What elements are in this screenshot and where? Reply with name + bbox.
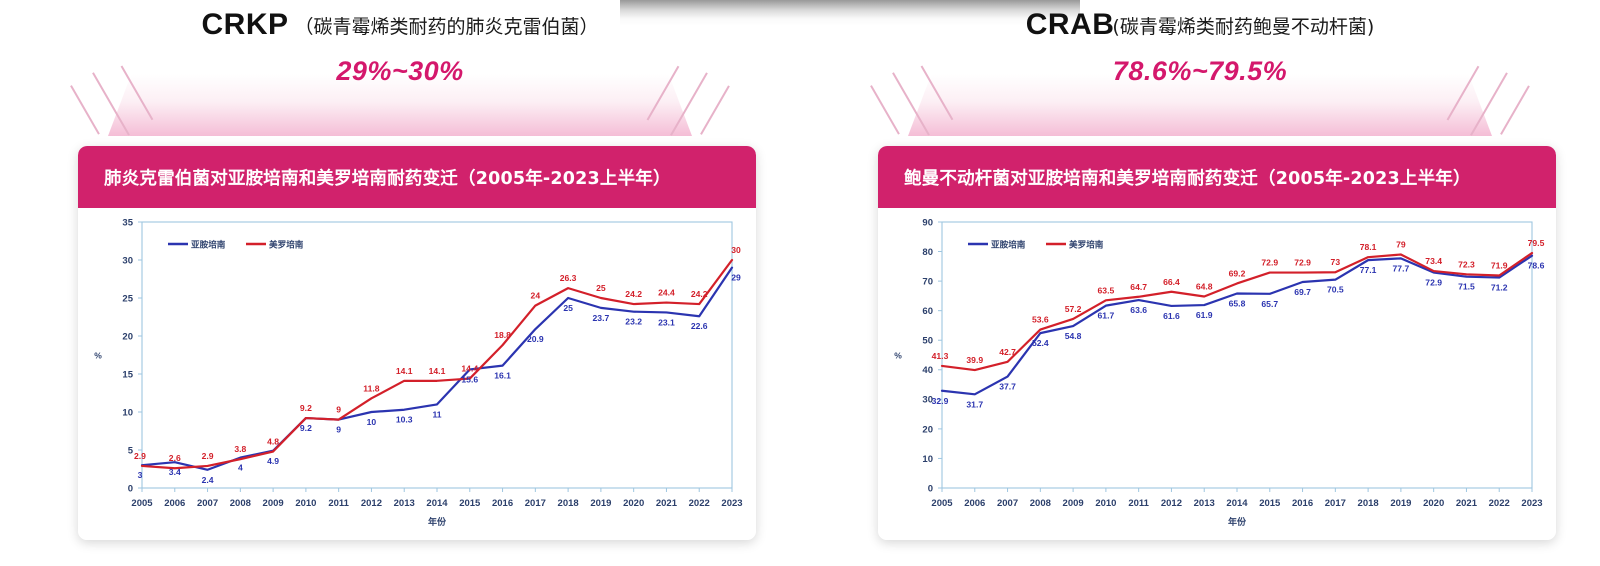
data-label: 73.4 [1425, 256, 1442, 266]
x-tick-label: 2012 [361, 498, 382, 509]
x-tick-label: 2016 [492, 498, 513, 509]
data-label: 72.9 [1294, 258, 1311, 268]
data-label: 32.9 [932, 396, 949, 406]
x-tick-label: 2017 [525, 498, 546, 509]
x-tick-label: 2013 [1194, 498, 1215, 509]
data-label: 10.3 [396, 415, 413, 425]
y-tick-label: 20 [122, 331, 133, 342]
chart-area-crkp: 05101520253035%2005200620072008200920102… [78, 208, 756, 540]
x-tick-label: 2010 [1095, 498, 1116, 509]
data-label: 18.8 [494, 330, 511, 340]
data-label: 30 [731, 245, 741, 255]
legend-label: 美罗培南 [1069, 239, 1104, 251]
x-tick-label: 2008 [230, 498, 251, 509]
data-label: 24.2 [691, 289, 708, 299]
data-label: 66.4 [1163, 277, 1180, 287]
data-label: 72.9 [1425, 278, 1442, 288]
data-label: 2.9 [134, 451, 146, 461]
chart-area-crab: 0102030405060708090%20052006200720082009… [878, 208, 1556, 540]
data-label: 14.4 [461, 364, 478, 374]
y-tick-label: 90 [922, 217, 933, 228]
data-label: 10 [367, 417, 377, 427]
chart-card-crkp: 肺炎克雷伯菌对亚胺培南和美罗培南耐药变迁（2005年-2023上半年） 0510… [78, 146, 756, 540]
legend-label: 美罗培南 [269, 239, 304, 251]
y-axis-title: % [94, 350, 102, 360]
data-label: 61.7 [1098, 311, 1115, 321]
y-tick-label: 15 [122, 369, 133, 380]
data-label: 64.8 [1196, 281, 1213, 291]
data-label: 77.1 [1360, 265, 1377, 275]
decorative-banner-crab: 78.6%~79.5% [870, 48, 1530, 140]
header-crkp: CRKP（碳青霉烯类耐药的肺炎克雷伯菌） [10, 8, 790, 42]
data-label: 3.8 [234, 444, 246, 454]
x-tick-label: 2017 [1325, 498, 1346, 509]
legend-label: 亚胺培南 [991, 239, 1026, 251]
data-label: 79 [1396, 240, 1406, 250]
x-tick-label: 2006 [164, 498, 185, 509]
x-tick-label: 2022 [689, 498, 710, 509]
data-label: 9 [336, 425, 341, 435]
data-label: 73 [1331, 257, 1341, 267]
data-label: 52.4 [1032, 338, 1049, 348]
data-label: 9.2 [300, 423, 312, 433]
x-tick-label: 2014 [1226, 498, 1248, 509]
x-tick-label: 2012 [1161, 498, 1182, 509]
data-label: 25 [563, 303, 573, 313]
x-tick-label: 2008 [1030, 498, 1051, 509]
chart-card-title-crkp: 肺炎克雷伯菌对亚胺培南和美罗培南耐药变迁（2005年-2023上半年） [104, 165, 671, 190]
data-label: 61.6 [1163, 311, 1180, 321]
x-tick-label: 2023 [721, 498, 742, 509]
data-label: 4.9 [267, 456, 279, 466]
y-tick-label: 20 [922, 424, 933, 435]
x-axis-title: 年份 [428, 516, 447, 528]
data-label: 53.6 [1032, 315, 1049, 325]
data-label: 16.1 [494, 371, 511, 381]
y-axis-title: % [894, 350, 902, 360]
data-label: 24 [531, 291, 541, 301]
data-label: 23.7 [593, 313, 610, 323]
data-label: 20.9 [527, 334, 544, 344]
data-label: 15.6 [461, 374, 478, 384]
data-label: 39.9 [966, 355, 983, 365]
data-label: 14.1 [429, 366, 446, 376]
x-tick-label: 2010 [295, 498, 316, 509]
data-label: 29 [731, 273, 741, 283]
data-label: 78.1 [1360, 242, 1377, 252]
x-tick-label: 2014 [426, 498, 448, 509]
y-tick-label: 0 [928, 483, 933, 494]
data-label: 70.5 [1327, 285, 1344, 295]
acronym-crkp: CRKP [201, 8, 288, 41]
x-tick-label: 2011 [1128, 498, 1149, 509]
data-label: 4.8 [267, 437, 279, 447]
data-label: 63.6 [1130, 305, 1147, 315]
data-label: 3.4 [169, 467, 181, 477]
chart-card-title-bar-crkp: 肺炎克雷伯菌对亚胺培南和美罗培南耐药变迁（2005年-2023上半年） [78, 146, 756, 208]
range-pct-crkp: 29%~30% [70, 56, 730, 87]
data-label: 65.7 [1261, 299, 1278, 309]
data-label: 65.8 [1229, 299, 1246, 309]
y-tick-label: 40 [922, 365, 933, 376]
subtitle-crkp: （碳青霉烯类耐药的肺炎克雷伯菌） [295, 16, 599, 38]
y-tick-label: 70 [922, 277, 933, 288]
x-tick-label: 2015 [459, 498, 481, 509]
panel-crkp: CRKP（碳青霉烯类耐药的肺炎克雷伯菌） 29%~30% 肺炎克雷伯菌对亚胺培南… [10, 0, 790, 566]
x-tick-label: 2013 [394, 498, 415, 509]
data-label: 23.2 [625, 317, 642, 327]
data-label: 78.6 [1528, 261, 1545, 271]
data-label: 31.7 [966, 399, 983, 409]
data-label: 26.3 [560, 273, 577, 283]
x-tick-label: 2018 [1358, 498, 1379, 509]
data-label: 41.3 [932, 351, 949, 361]
banner-slash-left-1 [870, 85, 899, 134]
x-tick-label: 2020 [623, 498, 644, 509]
data-label: 2.9 [202, 451, 214, 461]
x-tick-label: 2016 [1292, 498, 1313, 509]
data-label: 79.5 [1528, 238, 1545, 248]
y-tick-label: 50 [922, 336, 933, 347]
line-chart: 05101520253035%2005200620072008200920102… [78, 208, 756, 540]
range-pct-crab: 78.6%~79.5% [870, 56, 1530, 87]
line-chart: 0102030405060708090%20052006200720082009… [878, 208, 1556, 540]
x-tick-label: 2005 [131, 498, 153, 509]
data-label: 71.5 [1458, 282, 1475, 292]
data-label: 23.1 [658, 317, 675, 327]
x-tick-label: 2005 [931, 498, 953, 509]
data-label: 22.6 [691, 321, 708, 331]
y-tick-label: 60 [922, 306, 933, 317]
x-tick-label: 2007 [197, 498, 218, 509]
data-label: 63.5 [1098, 285, 1115, 295]
data-label: 24.4 [658, 288, 675, 298]
decorative-banner-crkp: 29%~30% [70, 48, 730, 140]
legend-label: 亚胺培南 [191, 239, 226, 251]
x-tick-label: 2021 [1456, 498, 1478, 509]
chart-card-title-bar-crab: 鲍曼不动杆菌对亚胺培南和美罗培南耐药变迁（2005年-2023上半年） [878, 146, 1556, 208]
header-crab: CRAB(碳青霉烯类耐药鲍曼不动杆菌) [810, 8, 1590, 42]
data-label: 37.7 [999, 382, 1016, 392]
y-tick-label: 35 [122, 217, 133, 228]
data-label: 9.2 [300, 403, 312, 413]
data-label: 72.9 [1261, 258, 1278, 268]
data-label: 11.8 [363, 383, 379, 393]
x-tick-label: 2011 [328, 498, 349, 509]
data-label: 42.7 [999, 347, 1016, 357]
x-tick-label: 2023 [1521, 498, 1542, 509]
data-label: 54.8 [1065, 331, 1082, 341]
x-tick-label: 2015 [1259, 498, 1281, 509]
y-tick-label: 10 [922, 454, 933, 465]
plot-frame [142, 222, 732, 488]
x-tick-label: 2018 [558, 498, 579, 509]
data-label: 69.7 [1294, 287, 1311, 297]
x-tick-label: 2022 [1489, 498, 1510, 509]
data-label: 64.7 [1130, 282, 1147, 292]
data-label: 9 [336, 405, 341, 415]
panel-crab: CRAB(碳青霉烯类耐药鲍曼不动杆菌) 78.6%~79.5% 鲍曼不动杆菌对亚… [810, 0, 1590, 566]
y-tick-label: 30 [122, 255, 133, 266]
x-tick-label: 2019 [1390, 498, 1411, 509]
acronym-crab: CRAB [1026, 8, 1115, 41]
x-tick-label: 2020 [1423, 498, 1444, 509]
chart-card-title-crab: 鲍曼不动杆菌对亚胺培南和美罗培南耐药变迁（2005年-2023上半年） [904, 165, 1471, 190]
data-label: 11 [432, 409, 441, 419]
y-tick-label: 0 [128, 483, 133, 494]
banner-slash-right-1 [1501, 85, 1530, 134]
x-tick-label: 2009 [1063, 498, 1084, 509]
data-label: 2.4 [202, 475, 214, 485]
x-tick-label: 2006 [964, 498, 985, 509]
data-label: 72.3 [1458, 259, 1475, 269]
data-label: 3 [138, 470, 143, 480]
y-tick-label: 80 [922, 247, 933, 258]
data-label: 77.7 [1393, 263, 1410, 273]
data-label: 71.9 [1491, 260, 1508, 270]
banner-slash-left-1 [70, 85, 99, 134]
chart-card-crab: 鲍曼不动杆菌对亚胺培南和美罗培南耐药变迁（2005年-2023上半年） 0102… [878, 146, 1556, 540]
data-label: 69.2 [1229, 268, 1246, 278]
data-label: 14.1 [396, 366, 413, 376]
data-label: 24.2 [625, 289, 642, 299]
data-label: 2.6 [169, 453, 181, 463]
y-tick-label: 5 [128, 445, 134, 456]
data-label: 71.2 [1491, 283, 1508, 293]
x-tick-label: 2019 [590, 498, 611, 509]
y-tick-label: 25 [122, 293, 133, 304]
data-label: 25 [596, 283, 606, 293]
x-tick-label: 2007 [997, 498, 1018, 509]
banner-slash-right-1 [701, 85, 730, 134]
subtitle-crab: (碳青霉烯类耐药鲍曼不动杆菌) [1112, 16, 1374, 38]
x-axis-title: 年份 [1228, 516, 1247, 528]
x-tick-label: 2009 [263, 498, 284, 509]
y-tick-label: 10 [122, 407, 133, 418]
data-label: 61.9 [1196, 310, 1213, 320]
data-label: 4 [238, 463, 243, 473]
plot-frame [942, 222, 1532, 488]
x-tick-label: 2021 [656, 498, 678, 509]
data-label: 57.2 [1065, 304, 1082, 314]
